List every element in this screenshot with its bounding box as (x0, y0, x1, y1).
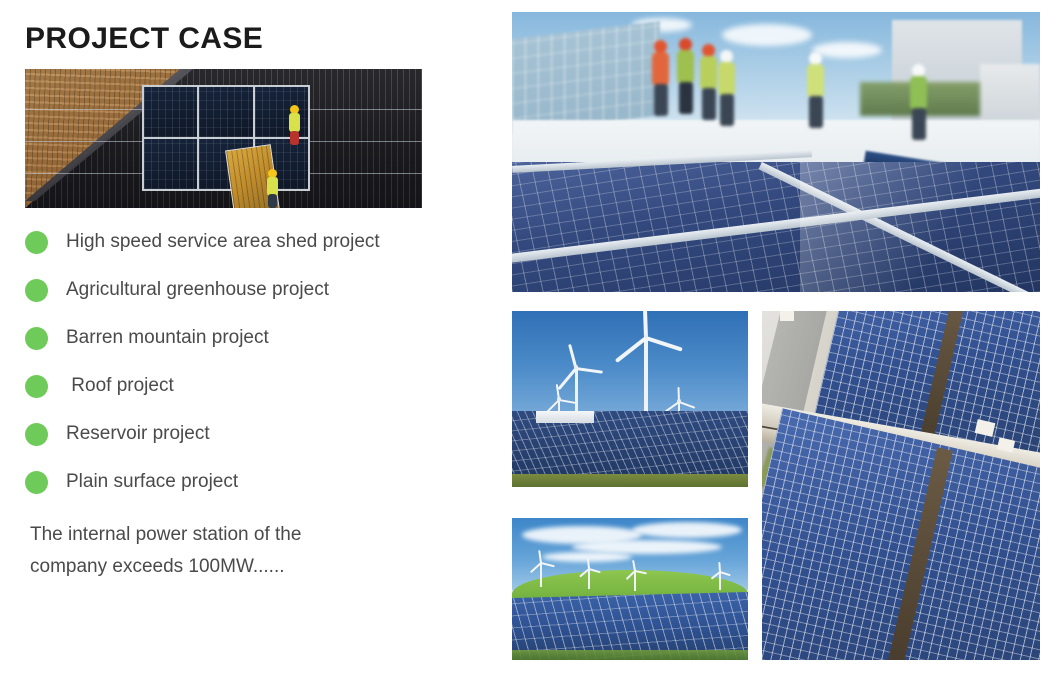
bullet-dot-icon (25, 279, 48, 302)
list-item-label: Reservoir project (66, 423, 210, 445)
worker-legs (809, 96, 823, 128)
turbine-hub (644, 334, 648, 338)
turbine-hub (557, 397, 561, 401)
worker-legs (290, 131, 299, 145)
panel-cell-block (255, 87, 308, 137)
hi-vis-vest (718, 62, 735, 96)
list-item[interactable]: Barren mountain project (25, 314, 485, 362)
list-item[interactable]: Plain surface project (25, 458, 485, 506)
cloud-shape (632, 522, 742, 538)
worker-legs (702, 88, 716, 120)
glass-facade-building (512, 21, 660, 134)
site-building (536, 411, 594, 423)
worker-legs (912, 108, 926, 140)
hi-vis-vest (700, 56, 717, 90)
bullet-dot-icon (25, 231, 48, 254)
panel-glare-highlight (800, 162, 1040, 292)
project-case-slide: PROJECT CASE (0, 0, 1060, 689)
list-item[interactable]: Reservoir project (25, 410, 485, 458)
photo-green-hills-solar (512, 518, 748, 660)
turbine-mast (644, 335, 648, 423)
photo-rooftop-crew (512, 12, 1040, 292)
installed-panel-array (142, 85, 310, 191)
list-item-label: High speed service area shed project (66, 231, 380, 253)
summary-note: The internal power station of the compan… (30, 519, 460, 583)
cloud-shape (812, 42, 882, 58)
summary-line-2: company exceeds 100MW...... (30, 551, 460, 583)
list-item[interactable]: Roof project (25, 362, 485, 410)
project-list: High speed service area shed project Agr… (25, 218, 485, 506)
bullet-dot-icon (25, 423, 48, 446)
roof-equipment-box (780, 311, 794, 321)
list-item[interactable]: High speed service area shed project (25, 218, 485, 266)
panel-cell-block (144, 139, 197, 189)
hi-vis-vest (289, 113, 300, 132)
cloud-shape (722, 24, 812, 46)
list-item-label: Roof project (66, 375, 174, 397)
background-building (980, 64, 1040, 126)
worker-legs (679, 82, 693, 114)
hi-vis-vest (652, 52, 669, 86)
list-item[interactable]: Agricultural greenhouse project (25, 266, 485, 314)
hi-vis-vest (807, 64, 824, 98)
bullet-dot-icon (25, 375, 48, 398)
grass-strip (512, 650, 748, 660)
panel-cell-block (199, 87, 252, 137)
list-item-label: Plain surface project (66, 471, 238, 493)
turbine-hub (574, 365, 578, 369)
list-item-label: Barren mountain project (66, 327, 269, 349)
hi-vis-vest (677, 50, 694, 84)
hi-vis-vest (910, 76, 927, 110)
photo-aerial-rooftop-array (762, 311, 1040, 660)
grass-strip (512, 474, 748, 487)
left-content-column: PROJECT CASE (0, 0, 495, 689)
turbine-hub (677, 399, 681, 403)
panel-cell-block (144, 87, 197, 137)
summary-line-1: The internal power station of the (30, 519, 460, 551)
sky-background (512, 311, 748, 415)
bullet-dot-icon (25, 471, 48, 494)
page-title: PROJECT CASE (25, 22, 263, 56)
worker-legs (268, 194, 277, 208)
worker-legs (720, 94, 734, 126)
photo-roof-installation (25, 69, 422, 208)
worker-legs (654, 84, 668, 116)
bullet-dot-icon (25, 327, 48, 350)
photo-wind-farm (512, 311, 748, 487)
list-item-label: Agricultural greenhouse project (66, 279, 329, 301)
